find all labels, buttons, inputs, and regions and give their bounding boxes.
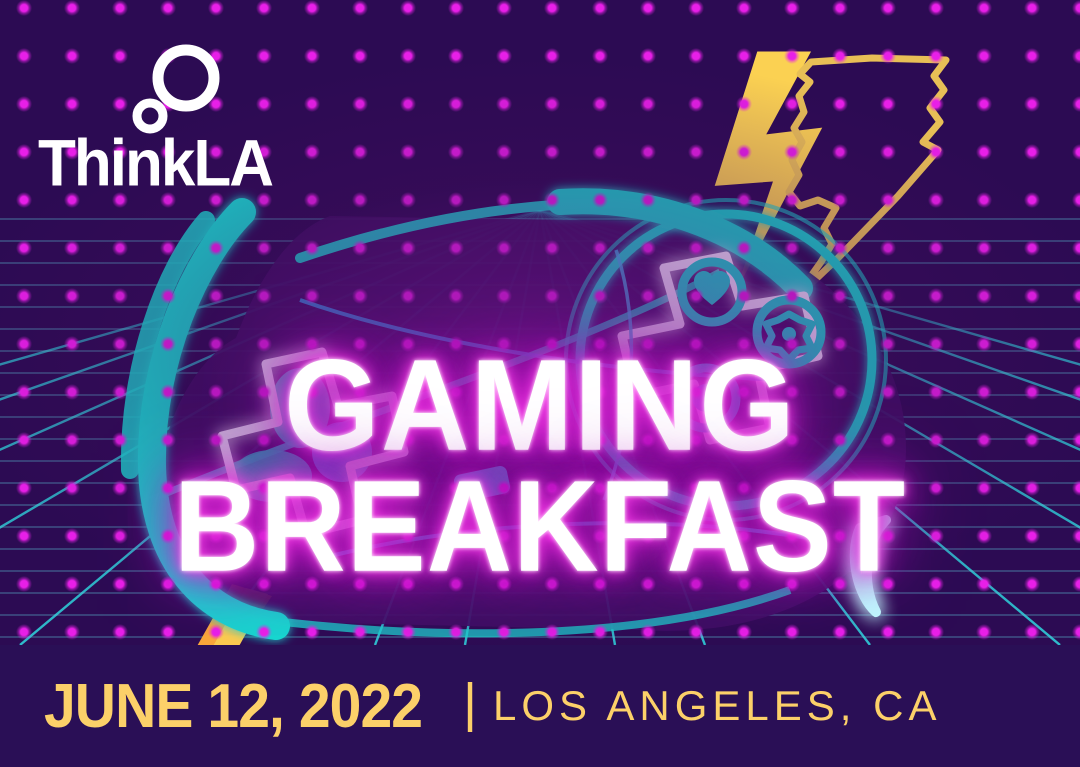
event-details-banner: JUNE 12, 2022 | LOS ANGELES, CA: [0, 645, 1080, 767]
event-poster: GAMING BREAKFAST ThinkLA JUNE 12, 2022 |…: [0, 0, 1080, 767]
poster-artwork-area: GAMING BREAKFAST ThinkLA: [0, 0, 1080, 645]
event-location: LOS ANGELES, CA: [493, 682, 942, 730]
lightning-bolt-outline: [789, 58, 946, 300]
crescent-highlight: [855, 520, 886, 612]
banner-separator: |: [463, 672, 477, 734]
thinkla-bubble-mark-icon: [124, 42, 224, 137]
thinkla-wordmark: ThinkLA: [38, 126, 272, 201]
game-controller: [130, 200, 906, 633]
thinkla-logo[interactable]: ThinkLA: [38, 42, 328, 190]
event-date: JUNE 12, 2022: [44, 671, 422, 742]
